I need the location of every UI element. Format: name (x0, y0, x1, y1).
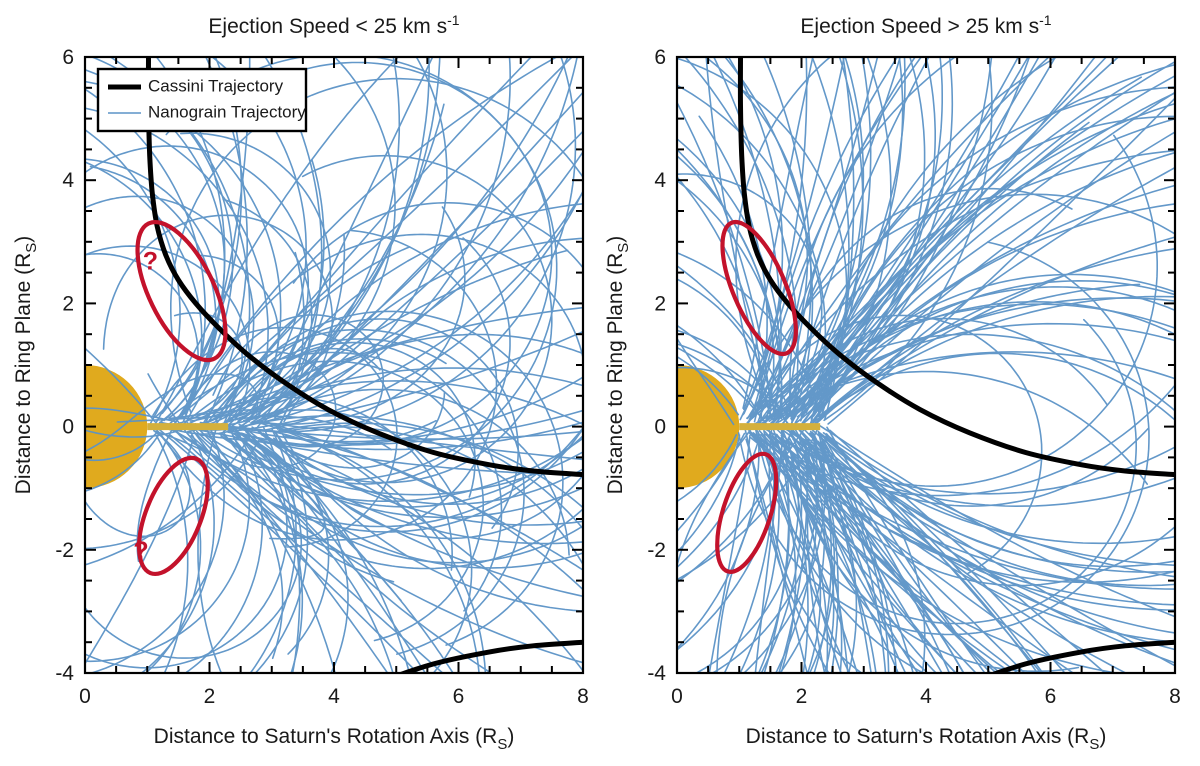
nanograin-trajectory (195, 433, 450, 766)
y-tick-label: 4 (654, 169, 666, 192)
y-tick-label: 4 (62, 169, 74, 192)
x-axis-label-tail: ) (1099, 725, 1106, 748)
x-tick-label: 0 (671, 685, 683, 708)
x-tick-label: 6 (1045, 685, 1057, 708)
y-tick-label: -2 (647, 539, 666, 562)
title-exponent: -1 (447, 12, 460, 28)
x-axis-label-left: Distance to Saturn's Rotation Axis (RS) (154, 725, 515, 753)
x-axis-label-right: Distance to Saturn's Rotation Axis (RS) (746, 725, 1107, 753)
x-tick-label: 0 (79, 685, 91, 708)
nanograin-trajectory (95, 436, 188, 766)
scientific-figure: Ejection Speed < 25 km s-1??024686420-2-… (0, 0, 1200, 766)
title-exponent: -1 (1039, 12, 1052, 28)
question-mark-upper: ? (143, 248, 158, 276)
x-tick-label: 4 (920, 685, 932, 708)
x-tick-label: 2 (796, 685, 808, 708)
y-tick-label: 6 (654, 46, 666, 69)
y-tick-label: 0 (62, 416, 74, 439)
nanograin-trajectory (821, 435, 957, 766)
plot-area-right (615, 0, 1200, 766)
y-axis-label-tail: ) (604, 236, 627, 243)
nanograin-trajectory (646, 0, 813, 426)
nanograin-trajectory (694, 436, 750, 766)
nanograin-trajectories-right (640, 0, 1200, 766)
legend-left: Cassini TrajectoryNanograin Trajectory (98, 69, 306, 131)
y-axis-label-left: Distance to Ring Plane (RS) (12, 236, 40, 495)
x-axis-label-subscript: S (497, 736, 507, 753)
nanograin-trajectory (54, 431, 215, 714)
x-tick-label: 8 (1169, 685, 1181, 708)
y-axis-label-right: Distance to Ring Plane (RS) (604, 236, 632, 495)
y-axis-label-subscript: S (615, 243, 632, 253)
y-tick-label: 0 (654, 416, 666, 439)
y-axis-label-tail: ) (12, 236, 35, 243)
x-tick-label: 4 (328, 685, 340, 708)
legend-label-cassini: Cassini Trajectory (148, 76, 284, 95)
panel-title-left: Ejection Speed < 25 km s-1 (208, 12, 459, 38)
y-tick-label: -4 (647, 662, 666, 685)
panel-title-right: Ejection Speed > 25 km s-1 (800, 12, 1051, 38)
y-tick-label: 2 (62, 292, 74, 315)
nanograin-trajectory (50, 103, 268, 421)
legend-label-nanograin: Nanograin Trajectory (148, 102, 306, 121)
x-tick-label: 8 (577, 685, 589, 708)
y-axis-label-subscript: S (23, 243, 40, 253)
x-tick-label: 6 (453, 685, 465, 708)
y-tick-label: -2 (55, 539, 74, 562)
nanograin-trajectory (170, 435, 552, 766)
nanograin-trajectory (49, 159, 219, 423)
nanograin-trajectory (282, 203, 619, 539)
panel-left: Ejection Speed < 25 km s-1??024686420-2-… (12, 0, 682, 766)
figure-root: Ejection Speed < 25 km s-1??024686420-2-… (0, 0, 1200, 766)
panel-right: Ejection Speed > 25 km s-1024686420-2-4D… (604, 0, 1200, 766)
question-mark-lower: ? (133, 537, 148, 565)
x-axis-label-subscript: S (1089, 736, 1099, 753)
x-axis-label-tail: ) (507, 725, 514, 748)
x-tick-label: 2 (204, 685, 216, 708)
y-tick-label: 2 (654, 292, 666, 315)
y-tick-label: 6 (62, 46, 74, 69)
nanograin-trajectory (221, 437, 506, 766)
y-tick-label: -4 (55, 662, 74, 685)
